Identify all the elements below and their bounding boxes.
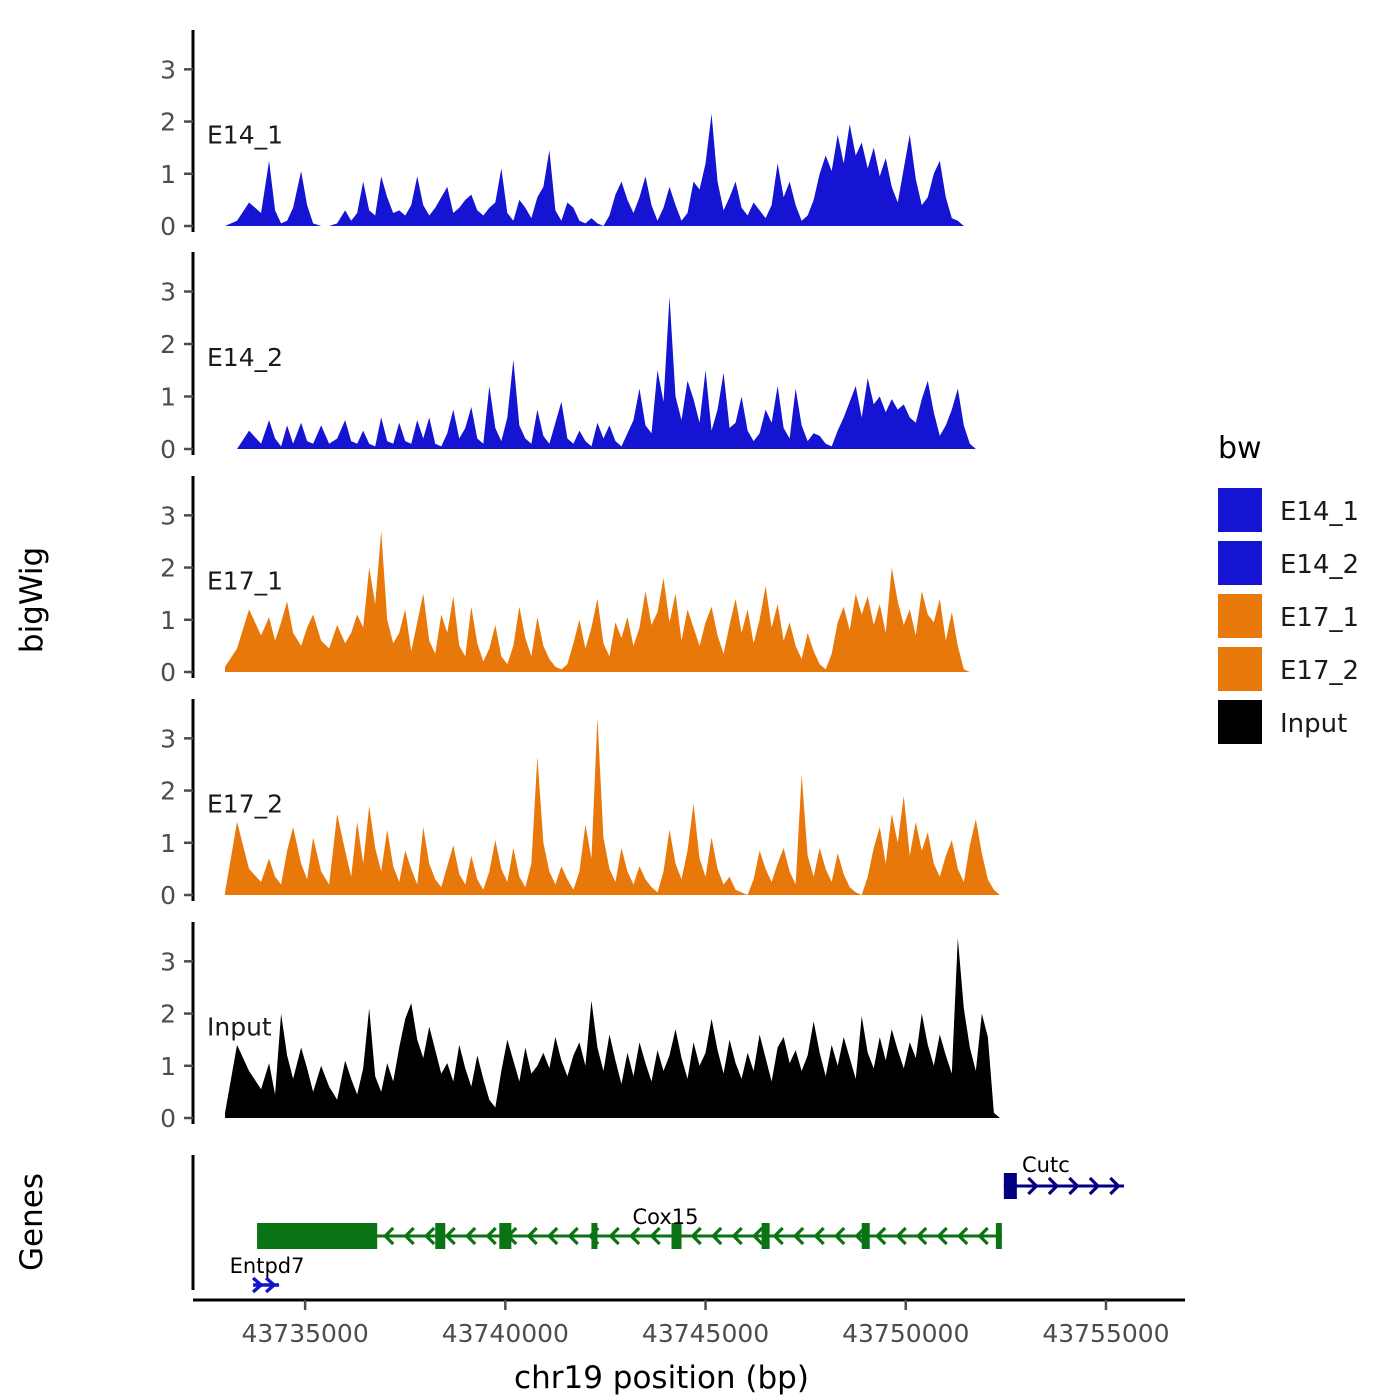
gene-cox15-exon: [762, 1223, 770, 1249]
track-label-e17_1: E17_1: [207, 567, 283, 596]
bigwig-genome-browser-figure: 0123E14_10123E14_20123E17_10123E17_20123…: [0, 0, 1400, 1400]
y-tick-label: 3: [160, 724, 176, 753]
y-tick-label: 0: [160, 212, 176, 241]
genes-strip-label: Genes: [14, 1173, 50, 1271]
y-tick-label: 0: [160, 881, 176, 910]
legend-label-e17_1: E17_1: [1280, 603, 1359, 633]
y-tick-label: 2: [160, 108, 176, 137]
y-tick-label: 1: [160, 829, 176, 858]
track-label-input: Input: [207, 1013, 272, 1042]
legend-swatch-e17_2: [1218, 647, 1262, 691]
gene-cox15-exon: [862, 1223, 870, 1249]
x-axis-title: chr19 position (bp): [514, 1360, 809, 1396]
y-tick-label: 2: [160, 554, 176, 583]
gene-cutc-label: Cutc: [1022, 1153, 1070, 1177]
y-tick-label: 0: [160, 1104, 176, 1133]
legend-label-input: Input: [1280, 709, 1347, 739]
track-label-e14_2: E14_2: [207, 343, 283, 372]
legend-title: bw: [1218, 431, 1262, 466]
y-tick-label: 1: [160, 606, 176, 635]
gene-cox15-label: Cox15: [632, 1205, 698, 1229]
gene-cox15-exon: [257, 1223, 377, 1249]
y-axis-title: bigWig: [14, 547, 50, 653]
legend-label-e14_1: E14_1: [1280, 497, 1359, 527]
y-tick-label: 1: [160, 383, 176, 412]
y-tick-label: 2: [160, 777, 176, 806]
legend-swatch-input: [1218, 700, 1262, 744]
x-tick-label: 43745000: [642, 1319, 769, 1348]
track-label-e17_2: E17_2: [207, 790, 283, 819]
x-tick-label: 43740000: [442, 1319, 569, 1348]
gene-cox15-exon: [435, 1223, 445, 1249]
y-tick-label: 2: [160, 1000, 176, 1029]
y-tick-label: 0: [160, 658, 176, 687]
gene-cox15-exon: [996, 1223, 1002, 1249]
y-tick-label: 3: [160, 947, 176, 976]
legend-label-e17_2: E17_2: [1280, 656, 1359, 686]
x-tick-label: 43735000: [241, 1319, 368, 1348]
y-tick-label: 1: [160, 1052, 176, 1081]
y-tick-label: 3: [160, 278, 176, 307]
legend-swatch-e14_2: [1218, 541, 1262, 585]
legend-swatch-e14_1: [1218, 488, 1262, 532]
y-tick-label: 3: [160, 55, 176, 84]
legend-label-e14_2: E14_2: [1280, 550, 1359, 580]
y-tick-label: 3: [160, 501, 176, 530]
x-tick-label: 43750000: [842, 1319, 969, 1348]
legend-swatch-e17_1: [1218, 594, 1262, 638]
figure-root: 0123E14_10123E14_20123E17_10123E17_20123…: [0, 0, 1400, 1400]
gene-entpd7-label: Entpd7: [230, 1254, 305, 1278]
y-tick-label: 1: [160, 160, 176, 189]
track-label-e14_1: E14_1: [207, 121, 283, 150]
y-tick-label: 0: [160, 435, 176, 464]
x-tick-label: 43755000: [1042, 1319, 1169, 1348]
y-tick-label: 2: [160, 330, 176, 359]
